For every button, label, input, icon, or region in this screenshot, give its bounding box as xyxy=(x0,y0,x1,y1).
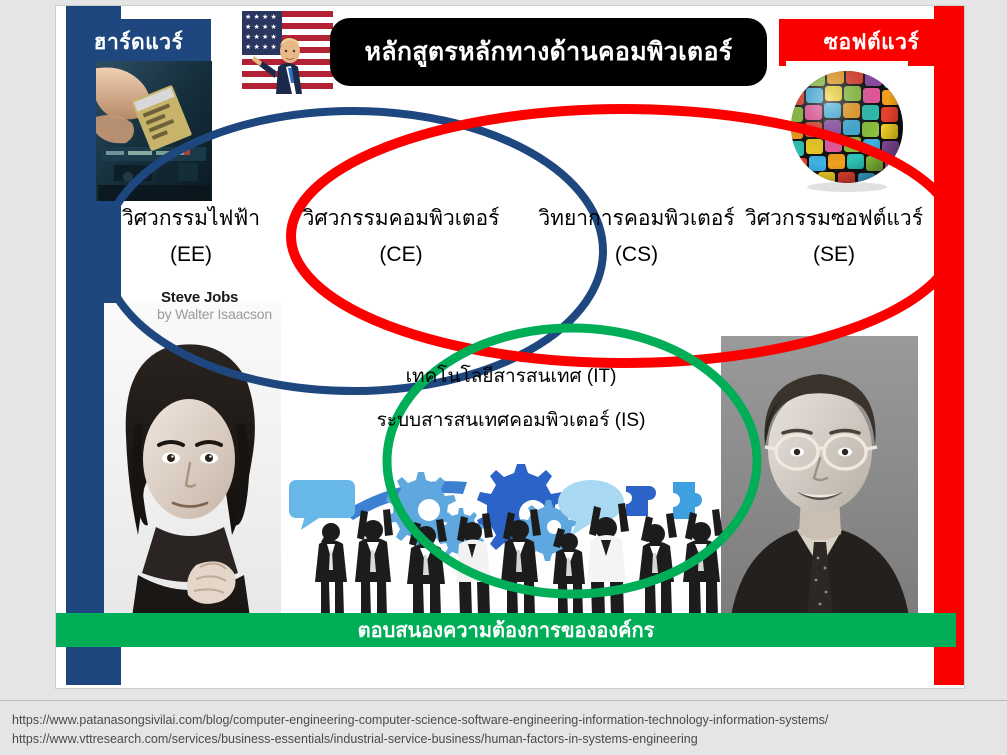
red-vertical-bar xyxy=(934,6,964,685)
trump-photo-graphic: ★ ★ ★ ★ ★ ★ ★ ★ ★ ★ ★ ★ ★ ★ ★ ★ xyxy=(242,11,333,94)
svg-text:★ ★ ★ ★: ★ ★ ★ ★ xyxy=(245,43,277,51)
slide-title: หลักสูตรหลักทางด้านคอมพิวเตอร์ xyxy=(364,32,732,72)
bill-gates-graphic xyxy=(721,336,918,616)
book-author: by Walter Isaacson xyxy=(157,306,272,322)
book-title: Steve Jobs xyxy=(161,289,238,306)
trump-photo: ★ ★ ★ ★ ★ ★ ★ ★ ★ ★ ★ ★ ★ ★ ★ ★ xyxy=(242,11,333,94)
svg-text:★ ★ ★ ★: ★ ★ ★ ★ xyxy=(245,33,277,41)
discipline-ee: วิศวกรรมไฟฟ้า (EE) xyxy=(101,206,281,269)
discipline-se-thai: วิศวกรรมซอฟต์แวร์ xyxy=(734,206,934,232)
discipline-ce-abbr: (CE) xyxy=(301,242,501,268)
discipline-ce-thai: วิศวกรรมคอมพิวเตอร์ xyxy=(301,206,501,232)
discipline-ee-abbr: (EE) xyxy=(101,242,281,268)
slide-title-pill: หลักสูตรหลักทางด้านคอมพิวเตอร์ xyxy=(330,18,767,86)
source-url-2[interactable]: https://www.vttresearch.com/services/bus… xyxy=(12,730,995,749)
slide-canvas: ฮาร์ดแวร์ ซอฟต์แวร์ xyxy=(55,5,965,689)
bill-gates-photo xyxy=(721,336,918,616)
discipline-ee-thai: วิศวกรรมไฟฟ้า xyxy=(101,206,281,232)
is-label: ระบบสารสนเทศคอมพิวเตอร์ (IS) xyxy=(346,405,676,435)
steve-jobs-photo xyxy=(104,303,281,617)
chip-photo-graphic xyxy=(96,61,212,201)
discipline-cs-abbr: (CS) xyxy=(534,242,739,268)
source-urls: https://www.patanasongsivilai.com/blog/c… xyxy=(0,700,1007,755)
hardware-label: ฮาร์ดแวร์ xyxy=(66,19,211,66)
discipline-se-abbr: (SE) xyxy=(734,242,934,268)
svg-text:★ ★ ★ ★: ★ ★ ★ ★ xyxy=(245,23,277,31)
software-label: ซอฟต์แวร์ xyxy=(779,19,964,66)
app-sphere-graphic xyxy=(786,61,908,197)
business-people-graphic xyxy=(281,458,724,616)
app-sphere-photo xyxy=(786,61,908,197)
it-label: เทคโนโลยีสารสนเทศ (IT) xyxy=(346,361,676,391)
discipline-cs: วิทยาการคอมพิวเตอร์ (CS) xyxy=(534,206,739,269)
source-url-1[interactable]: https://www.patanasongsivilai.com/blog/c… xyxy=(12,711,995,730)
steve-jobs-graphic xyxy=(104,303,281,617)
svg-text:★ ★ ★ ★: ★ ★ ★ ★ xyxy=(245,13,277,21)
business-people-illustration xyxy=(281,458,724,616)
chip-photo xyxy=(96,61,212,201)
it-is-group: เทคโนโลยีสารสนเทศ (IT) ระบบสารสนเทศคอมพิ… xyxy=(346,361,676,435)
discipline-ce: วิศวกรรมคอมพิวเตอร์ (CE) xyxy=(301,206,501,269)
discipline-se: วิศวกรรมซอฟต์แวร์ (SE) xyxy=(734,206,934,269)
green-banner-label: ตอบสนองความต้องการขององค์กร xyxy=(56,613,956,647)
discipline-cs-thai: วิทยาการคอมพิวเตอร์ xyxy=(534,206,739,232)
